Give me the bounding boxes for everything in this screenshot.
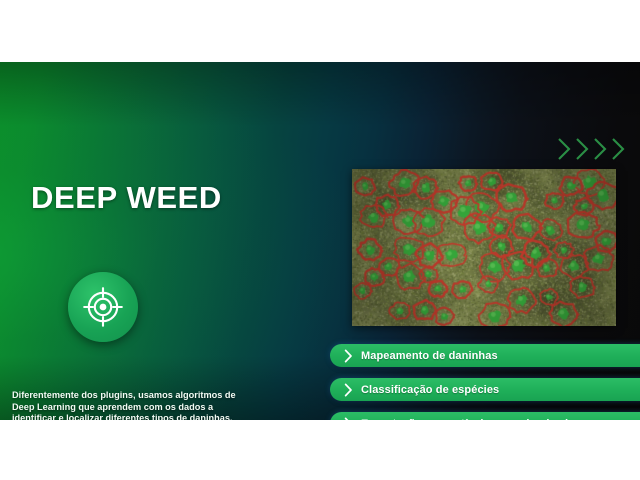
chevron-right-icon [344,383,353,397]
feature-label: Mapeamento de daninhas [361,350,498,362]
feature-pill-classificacao[interactable]: Classificação de espécies [330,378,640,401]
weed-detection-canvas [352,169,616,326]
quadruple-chevron-right-icon [556,136,627,162]
target-crosshair-icon [68,272,138,342]
page-title: DEEP WEED [31,180,222,216]
feature-list: Mapeamento de daninhas Classificação de … [330,344,640,420]
chevron-right-icon [344,417,353,421]
feature-label: Exportação compatível com pulverizadores [361,418,592,421]
weed-detection-photo [352,169,616,326]
feature-pill-mapeamento[interactable]: Mapeamento de daninhas [330,344,640,367]
description-paragraph: Diferentemente dos plugins, usamos algor… [12,390,238,420]
feature-label: Classificação de espécies [361,384,499,396]
slide-stage: DEEP WEED Diferentemente dos plugins, us… [0,0,640,480]
presentation-slide: DEEP WEED Diferentemente dos plugins, us… [0,62,640,420]
chevron-right-icon [344,349,353,363]
feature-pill-exportacao[interactable]: Exportação compatível com pulverizadores [330,412,640,420]
